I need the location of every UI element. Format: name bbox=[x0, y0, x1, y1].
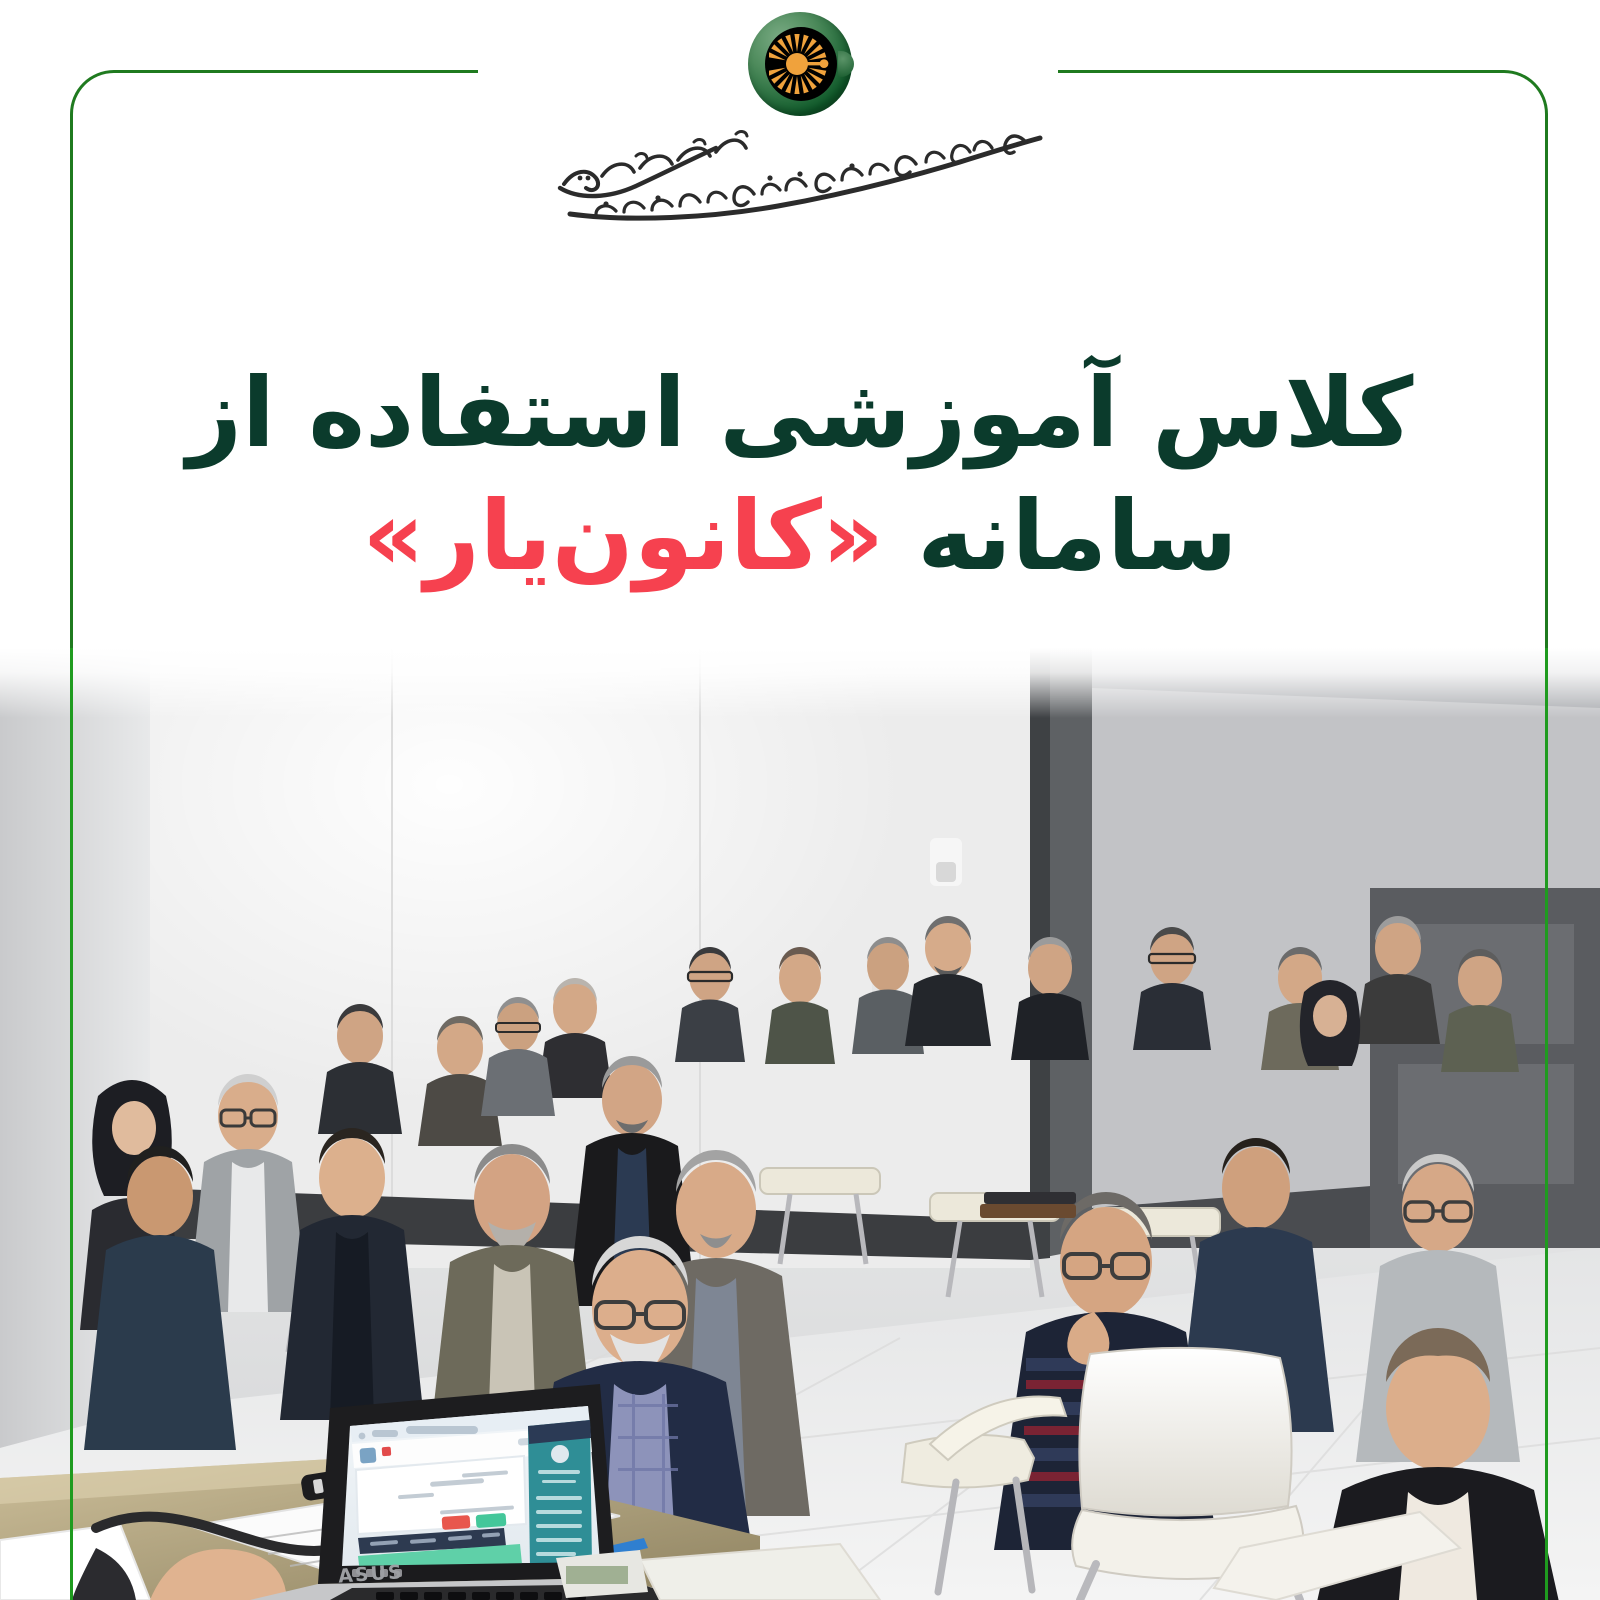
kanoon-sunburst-logo-icon bbox=[748, 12, 852, 116]
title-line-1: کلاس آموزشی استفاده از bbox=[0, 352, 1600, 475]
poster-title-block: کلاس آموزشی استفاده از سامانه «کانون‌یار… bbox=[0, 352, 1600, 598]
poster-header bbox=[0, 0, 1600, 250]
frame-rail-right bbox=[1545, 648, 1548, 1600]
sunburst-icon bbox=[769, 32, 833, 96]
title-line-2-prefix: سامانه bbox=[884, 480, 1238, 592]
classroom-photo: ASUS bbox=[0, 648, 1600, 1600]
svg-text:ASUS: ASUS bbox=[337, 1561, 404, 1588]
title-line-2-accent: «کانون‌یار» bbox=[362, 480, 883, 592]
frame-rail-left bbox=[70, 648, 73, 1600]
logo-crescent-gap bbox=[838, 51, 854, 77]
organization-calligraphy bbox=[540, 118, 1060, 228]
poster-canvas: کلاس آموزشی استفاده از سامانه «کانون‌یار… bbox=[0, 0, 1600, 1600]
logo-inner-disc bbox=[765, 27, 837, 101]
title-line-2: سامانه «کانون‌یار» bbox=[0, 475, 1600, 598]
